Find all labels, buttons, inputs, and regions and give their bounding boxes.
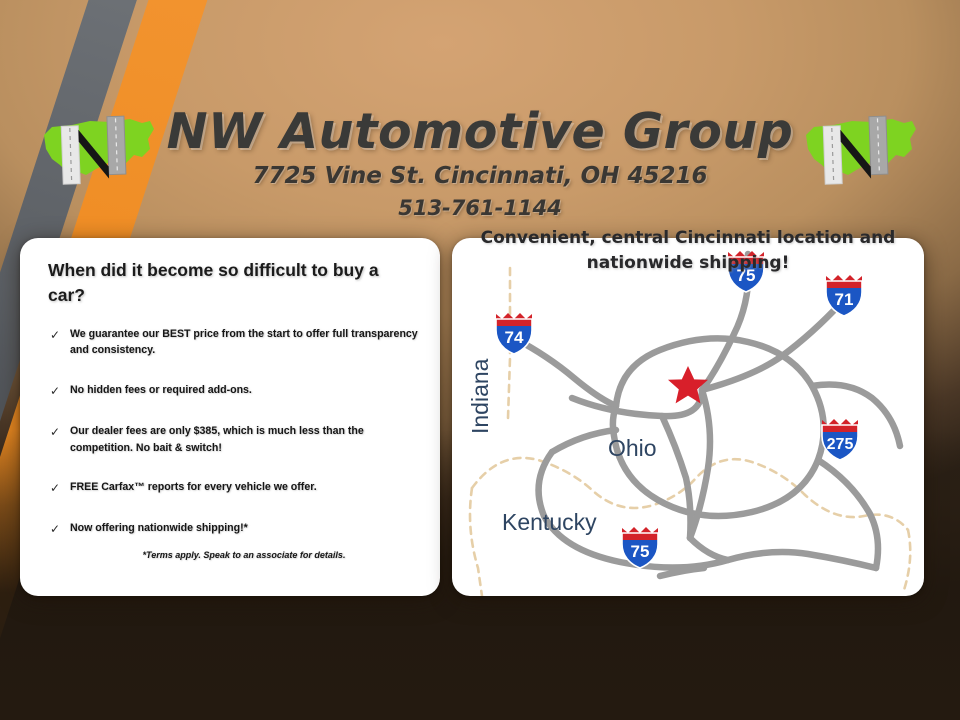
state-label-kentucky: Kentucky bbox=[502, 509, 597, 535]
checkmark-icon: ✓ bbox=[50, 479, 70, 497]
highway-shield-label: 74 bbox=[505, 328, 524, 347]
highway-shield-label: 75 bbox=[737, 266, 756, 285]
brand-address: 7725 Vine St. Cincinnati, OH 45216 bbox=[0, 163, 960, 189]
highway-shield-label: 275 bbox=[827, 436, 854, 453]
terms-footnote: *Terms apply. Speak to an associate for … bbox=[20, 550, 440, 560]
highway-shield-75-north[interactable]: 75 bbox=[728, 251, 764, 292]
slide-canvas: NW Automotive Group 7725 Vine St. Cincin… bbox=[0, 0, 960, 720]
state-label-ohio: Ohio bbox=[608, 435, 657, 461]
list-item: ✓ Now offering nationwide shipping!* bbox=[50, 520, 428, 538]
list-item-label: FREE Carfax™ reports for every vehicle w… bbox=[70, 479, 317, 495]
list-item-label: Our dealer fees are only $385, which is … bbox=[70, 423, 428, 456]
benefits-list: ✓ We guarantee our BEST price from the s… bbox=[50, 326, 428, 562]
list-item-label: No hidden fees or required add-ons. bbox=[70, 382, 252, 398]
list-item: ✓ No hidden fees or required add-ons. bbox=[50, 382, 428, 400]
cincinnati-area-map: Indiana Ohio Kentucky 75 71 74 275 bbox=[452, 238, 924, 596]
card-heading: When did it become so difficult to buy a… bbox=[48, 258, 418, 308]
highway-shield-label: 75 bbox=[631, 542, 650, 561]
list-item: ✓ FREE Carfax™ reports for every vehicle… bbox=[50, 479, 428, 497]
state-label-indiana: Indiana bbox=[467, 358, 493, 434]
list-item-label: Now offering nationwide shipping!* bbox=[70, 520, 248, 536]
checkmark-icon: ✓ bbox=[50, 326, 70, 344]
highway-shield-275[interactable]: 275 bbox=[822, 419, 858, 460]
checkmark-icon: ✓ bbox=[50, 520, 70, 538]
list-item: ✓ Our dealer fees are only $385, which i… bbox=[50, 423, 428, 456]
checkmark-icon: ✓ bbox=[50, 382, 70, 400]
brand-phone: 513-761-1144 bbox=[0, 196, 960, 220]
location-map-card: Convenient, central Cincinnati location … bbox=[452, 238, 924, 596]
checkmark-icon: ✓ bbox=[50, 423, 70, 441]
brand-name: NW Automotive Group bbox=[0, 106, 960, 157]
list-item: ✓ We guarantee our BEST price from the s… bbox=[50, 326, 428, 359]
value-proposition-card: When did it become so difficult to buy a… bbox=[20, 238, 440, 596]
brand-header: NW Automotive Group 7725 Vine St. Cincin… bbox=[0, 106, 960, 220]
highway-shield-label: 71 bbox=[835, 290, 854, 309]
list-item-label: We guarantee our BEST price from the sta… bbox=[70, 326, 428, 359]
